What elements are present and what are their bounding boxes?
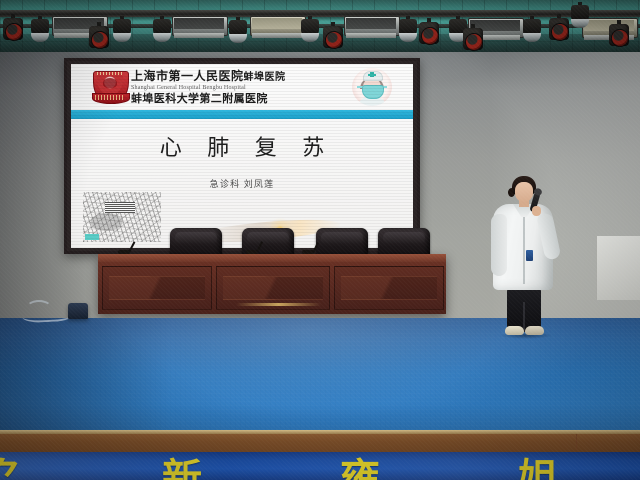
led-panel-light-icon bbox=[344, 14, 398, 40]
stage-monitor-speaker bbox=[68, 303, 88, 319]
fresnel-light-icon bbox=[228, 17, 248, 45]
presenter-shoe-right bbox=[525, 326, 544, 335]
presenter-in-lab-coat bbox=[486, 176, 562, 334]
led-panel-light-icon bbox=[172, 14, 226, 40]
fresnel-light-icon bbox=[570, 2, 590, 30]
table-panel bbox=[102, 266, 212, 310]
led-panel-light-icon bbox=[250, 14, 304, 40]
hospital-name-block: 上海市第一人民医院蚌埠医院 Shanghai General Hospital … bbox=[131, 70, 361, 106]
presentation-slide: 上海市第一人民医院蚌埠医院 Shanghai General Hospital … bbox=[71, 64, 413, 248]
par-can-light-icon bbox=[2, 14, 24, 44]
table-panel bbox=[334, 266, 444, 310]
presenter-hand bbox=[532, 206, 541, 216]
fresnel-light-icon bbox=[152, 16, 172, 44]
par-can-light-icon bbox=[418, 18, 440, 48]
stage-floor-shadow bbox=[0, 318, 170, 434]
bottom-blue-banner: ⺈ 新 雍 姐 bbox=[0, 452, 640, 480]
par-can-light-icon bbox=[462, 24, 484, 54]
table-top-surface bbox=[98, 254, 446, 262]
slide-accent-band bbox=[71, 110, 413, 119]
fresnel-light-icon bbox=[112, 16, 132, 44]
wall-panel-right bbox=[596, 236, 640, 300]
coiled-cable-loop bbox=[26, 300, 52, 316]
hospital-name-pinyin: Shanghai General Hospital Bengbu Hospita… bbox=[131, 84, 361, 92]
hospital-crest-logo-icon bbox=[93, 69, 127, 107]
presenter-face bbox=[515, 182, 533, 202]
auditorium-scene: 上海市第一人民医院蚌埠医院 Shanghai General Hospital … bbox=[0, 0, 640, 480]
par-can-light-icon bbox=[608, 20, 630, 50]
hospital-name-line1: 上海市第一人民医院蚌埠医院 bbox=[131, 70, 361, 84]
presenter-id-badge bbox=[526, 250, 533, 261]
slide-title: 心 肺 复 苏 bbox=[71, 130, 413, 162]
hospital-name-line3: 蚌埠医科大学第二附属医院 bbox=[131, 92, 361, 106]
conference-table bbox=[98, 254, 446, 314]
table-trim bbox=[236, 303, 321, 306]
par-can-light-icon bbox=[322, 22, 344, 52]
projection-screen: 上海市第一人民医院蚌埠医院 Shanghai General Hospital … bbox=[64, 58, 420, 254]
masked-medical-staff-icon bbox=[352, 68, 392, 106]
fresnel-light-icon bbox=[398, 16, 418, 44]
banner-text: ⺈ 新 雍 姐 bbox=[0, 452, 640, 480]
slide-header: 上海市第一人民医院蚌埠医院 Shanghai General Hospital … bbox=[71, 64, 413, 110]
presenter-shoe-left bbox=[505, 326, 524, 335]
slide-subtitle: 急诊科 刘凤莲 bbox=[71, 177, 413, 190]
fresnel-light-icon bbox=[522, 16, 542, 44]
par-can-light-icon bbox=[88, 22, 110, 52]
par-can-light-icon bbox=[548, 14, 570, 44]
fresnel-light-icon bbox=[30, 16, 50, 44]
fresnel-light-icon bbox=[300, 16, 320, 44]
